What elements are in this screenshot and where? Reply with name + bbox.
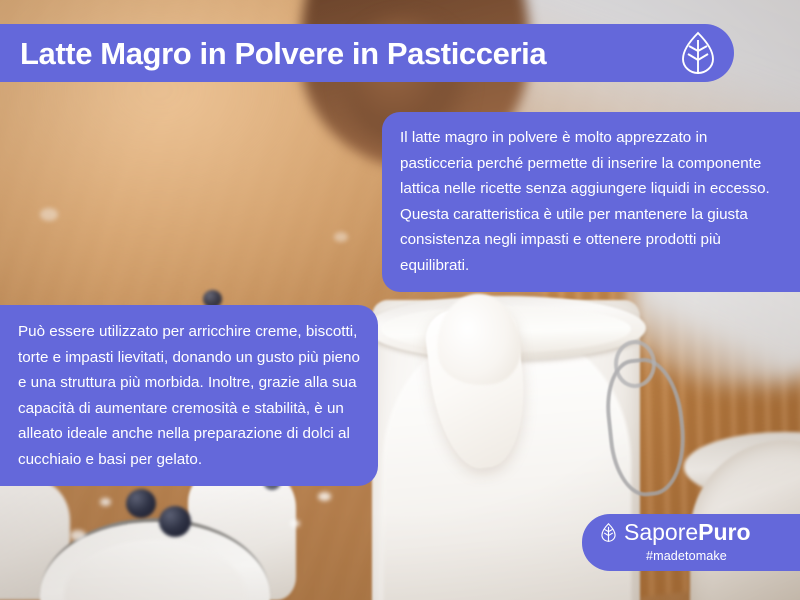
powder-speck [70, 530, 86, 541]
brand-logo-row: SaporePuro [598, 521, 800, 544]
jar-clasp-ring [614, 340, 656, 388]
leaf-icon [598, 522, 619, 543]
background-photo [0, 0, 800, 600]
page-title: Latte Magro in Polvere in Pasticceria [20, 38, 546, 69]
powder-speck [318, 492, 331, 501]
powder-speck [334, 232, 348, 242]
brand-name: SaporePuro [624, 521, 751, 544]
blueberry [159, 506, 191, 537]
poster: Latte Magro in Polvere in Pasticceria Il… [0, 0, 800, 600]
powder-speck [290, 520, 300, 527]
blueberry [126, 489, 156, 518]
brand-tagline: #madetomake [598, 549, 800, 563]
powder-speck [40, 208, 58, 221]
description-block-right: Il latte magro in polvere è molto apprez… [382, 112, 800, 292]
title-banner: Latte Magro in Polvere in Pasticceria [0, 24, 734, 82]
brand-name-bold: Puro [698, 519, 750, 545]
powder-speck [100, 498, 111, 506]
brand-logo-badge[interactable]: SaporePuro #madetomake [582, 514, 800, 571]
description-block-left: Può essere utilizzato per arricchire cre… [0, 305, 378, 486]
brand-name-light: Sapore [624, 519, 698, 545]
leaf-icon [674, 29, 722, 77]
